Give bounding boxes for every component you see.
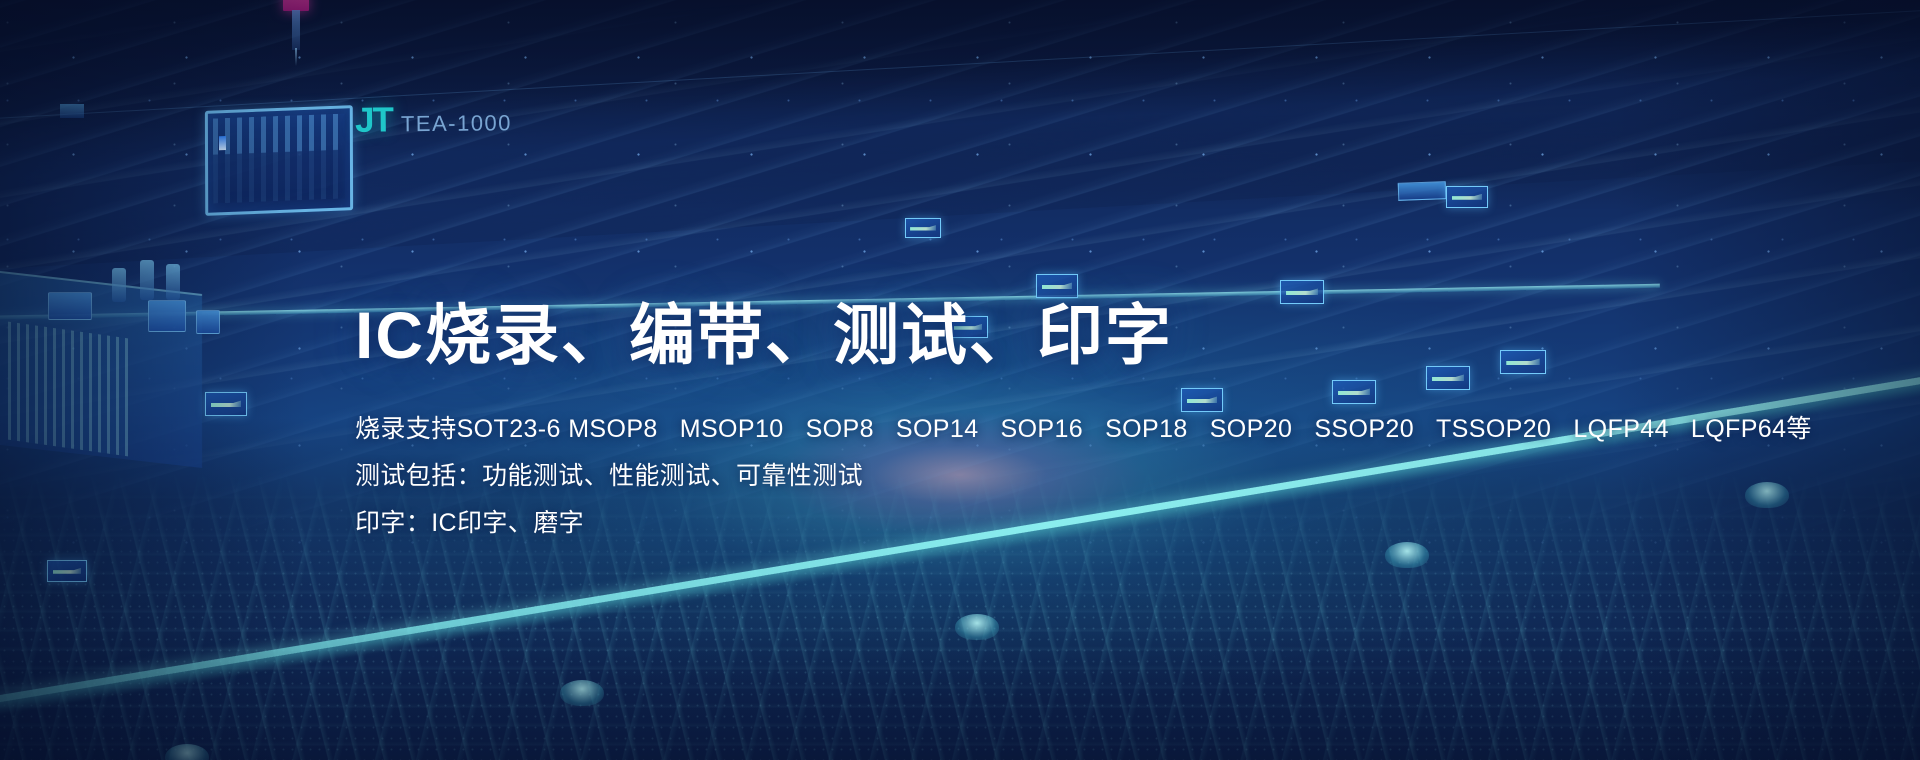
- marking-line: 印字：IC印字、磨字: [355, 511, 1595, 536]
- burn-support-line: 烧录支持SOT23-6 MSOP8MSOP10SOP8SOP14SOP16SOP…: [355, 417, 1595, 442]
- handler-machine-fins: [8, 322, 128, 457]
- chip-tray-icon: [905, 218, 941, 238]
- package-label: MSOP8: [568, 417, 658, 442]
- package-label: LQFP64等: [1691, 417, 1812, 442]
- equipment-model-label: TEA-1000: [401, 110, 512, 137]
- chip-tray-icon: [47, 560, 87, 582]
- package-label: SOP16: [1001, 417, 1084, 442]
- burn-prefix-label: 烧录支持SOT23-6: [355, 417, 561, 442]
- jt-logo-mark: JT: [355, 100, 392, 140]
- chip-tray-icon: [1446, 186, 1488, 208]
- package-label: TSSOP20: [1436, 417, 1551, 442]
- package-label: SOP8: [806, 417, 874, 442]
- monitor-stand: [60, 104, 84, 118]
- pendant-rod: [292, 10, 300, 50]
- testing-line: 测试包括：功能测试、性能测试、可靠性测试: [355, 464, 1595, 489]
- machine-module-2: [148, 300, 186, 332]
- ic-services-hero-banner: JT TEA-1000 IC烧录、编带、测试、印字 烧录支持SOT23-6 MS…: [0, 0, 1920, 760]
- package-list: MSOP8MSOP10SOP8SOP14SOP16SOP18SOP20SSOP2…: [568, 417, 1812, 442]
- service-detail-list: 烧录支持SOT23-6 MSOP8MSOP10SOP8SOP14SOP16SOP…: [355, 417, 1595, 536]
- machine-module-3: [196, 310, 220, 334]
- pendant-tip: [295, 48, 297, 66]
- rail-support-foot: [560, 680, 604, 706]
- package-label: SOP14: [896, 417, 979, 442]
- chip-tray-icon: [1036, 274, 1078, 298]
- package-label: MSOP10: [680, 417, 784, 442]
- package-label: SSOP20: [1314, 417, 1414, 442]
- rail-support-foot: [165, 744, 209, 760]
- machine-tube-1: [112, 268, 126, 302]
- machine-tube-2: [140, 260, 154, 300]
- monitor-screen: [213, 113, 345, 203]
- hero-content: IC烧录、编带、测试、印字 烧录支持SOT23-6 MSOP8MSOP10SOP…: [355, 300, 1595, 536]
- rail-support-foot: [1745, 482, 1789, 508]
- package-label: SOP20: [1210, 417, 1293, 442]
- equipment-brand-lockup: JT TEA-1000: [355, 99, 512, 141]
- rail-support-foot: [955, 614, 999, 640]
- chip-tray-icon: [205, 392, 247, 416]
- rail-support-foot: [1385, 542, 1429, 568]
- right-side-device: [1398, 181, 1447, 201]
- monitor-status-led-icon: [219, 136, 226, 150]
- machine-module-1: [48, 292, 92, 320]
- page-title: IC烧录、编带、测试、印字: [355, 300, 1595, 371]
- package-label: SOP18: [1105, 417, 1188, 442]
- machine-monitor: [205, 105, 353, 216]
- package-label: LQFP44: [1573, 417, 1669, 442]
- machine-tube-3: [166, 264, 180, 300]
